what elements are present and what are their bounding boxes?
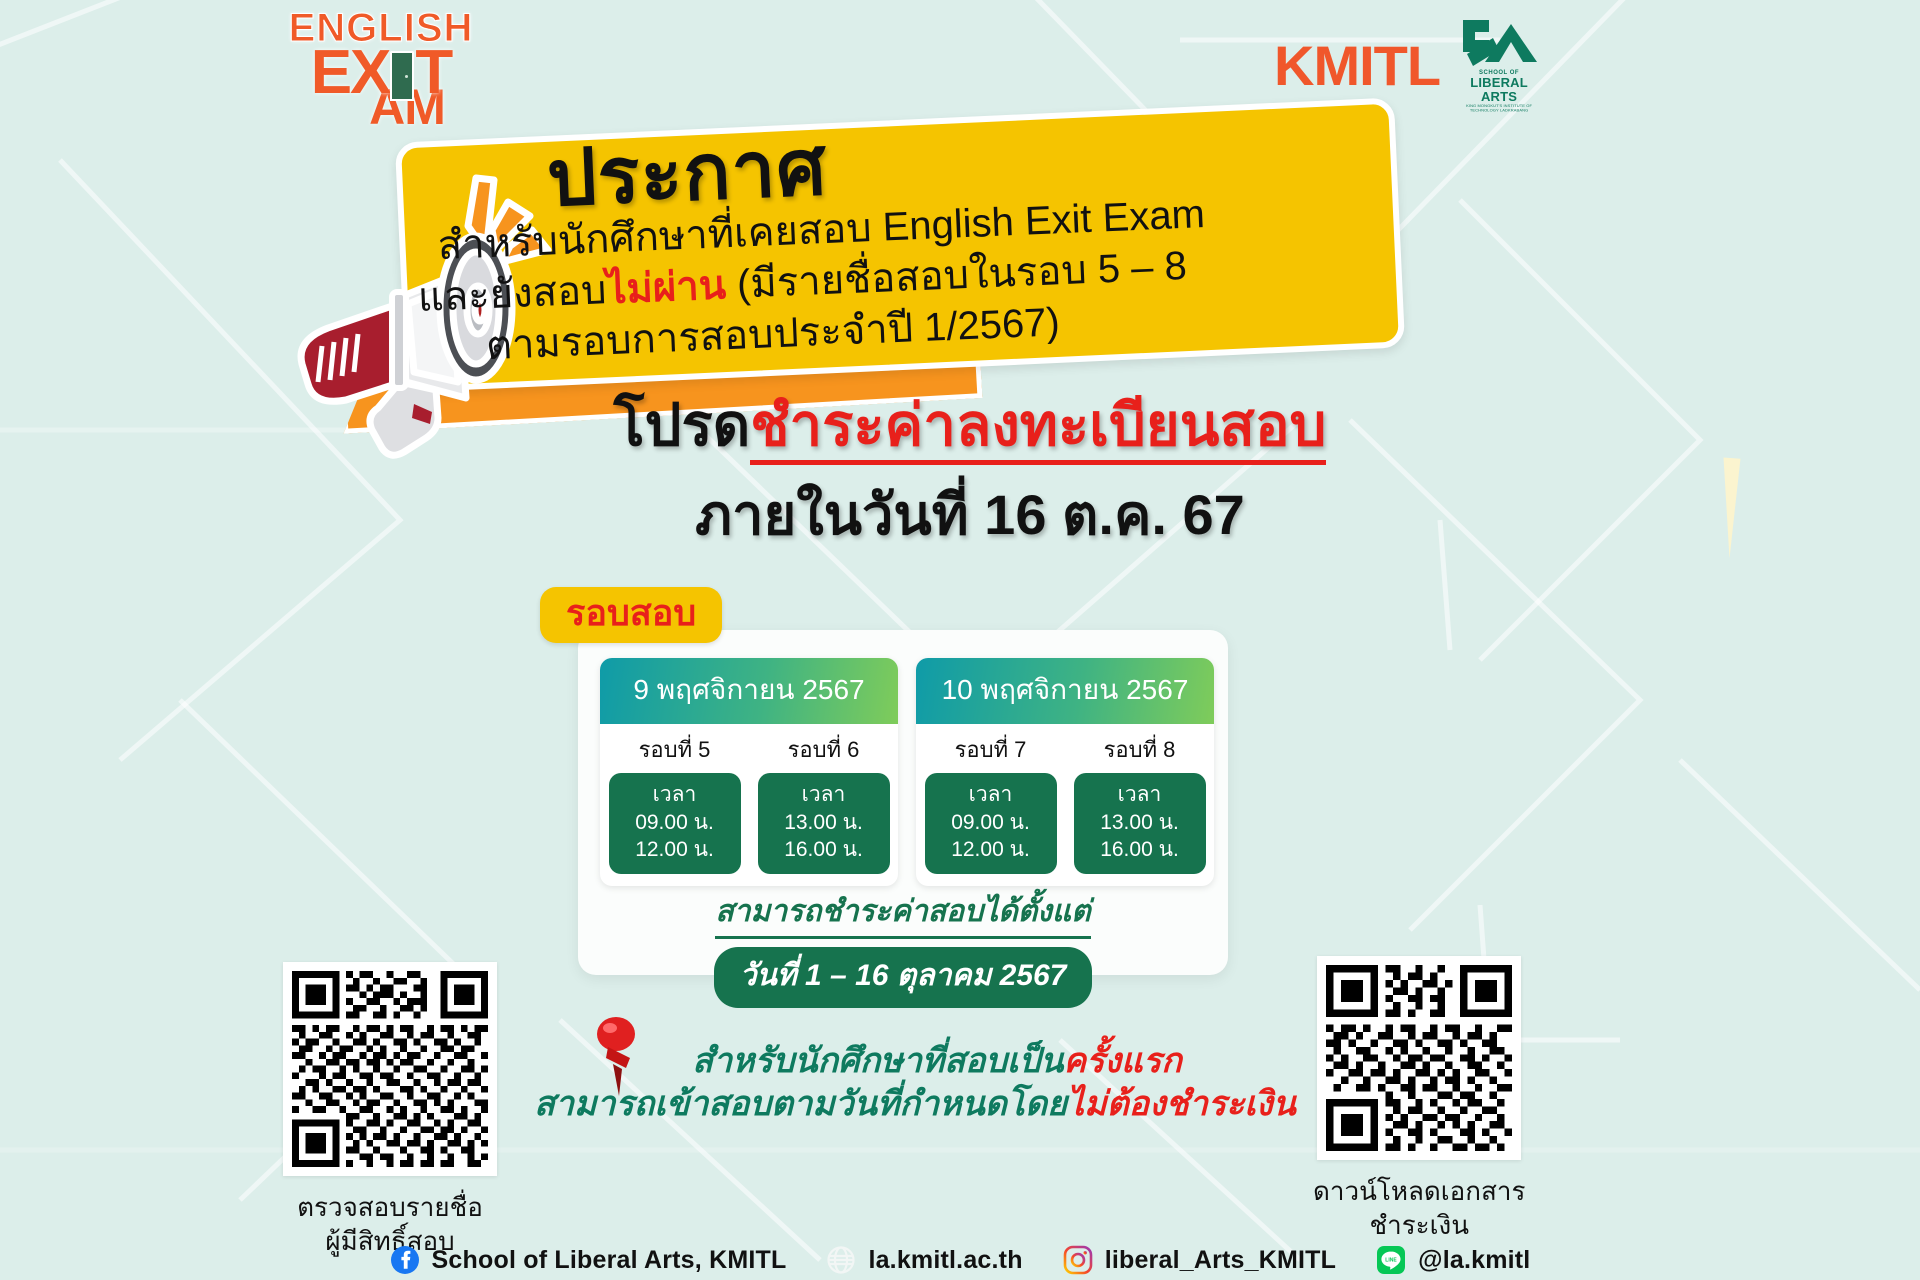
qr-code-icon[interactable] <box>1317 956 1521 1160</box>
logo-ex-text: EX <box>311 38 390 107</box>
la-sub-university: KING MONGKUT'S INSTITUTE OF TECHNOLOGY L… <box>1456 104 1542 113</box>
schedule-day-date: 10 พฤศจิกายน 2567 <box>916 658 1214 724</box>
round-time-box: เวลา 09.00 น. 12.00 น. <box>609 773 741 874</box>
payment-window-note: สามารถชำระค่าสอบได้ตั้งแต่ วันที่ 1 – 16… <box>578 888 1228 1008</box>
time-end: 12.00 น. <box>609 836 741 864</box>
payment-callout: โปรดชำระค่าลงทะเบียนสอบ ภายในวันที่ 16 ต… <box>540 392 1400 559</box>
callout-line-1: โปรดชำระค่าลงทะเบียนสอบ <box>540 392 1400 460</box>
time-start: 09.00 น. <box>925 809 1057 837</box>
svg-text:LINE: LINE <box>1385 1257 1397 1263</box>
first-time-red-2: ไม่ต้องชำระเงิน <box>1067 1085 1296 1123</box>
logo-line-exit: EXT <box>286 42 476 104</box>
first-time-prefix: สำหรับนักศึกษาที่สอบเป็น <box>692 1042 1063 1080</box>
schedule-day-date: 9 พฤศจิกายน 2567 <box>600 658 898 724</box>
time-start: 13.00 น. <box>758 809 890 837</box>
la-monogram-icon <box>1459 18 1539 70</box>
callout-black-text: โปรด <box>614 393 751 458</box>
schedule-round: รอบที่ 7 เวลา 09.00 น. 12.00 น. <box>925 732 1057 874</box>
payment-window-dates: วันที่ 1 – 16 ตุลาคม 2567 <box>714 947 1093 1008</box>
time-end: 16.00 น. <box>758 836 890 864</box>
round-label: รอบที่ 6 <box>758 732 890 767</box>
english-exit-exam-logo: ENGLISH EXT AM <box>286 8 476 136</box>
line-icon: LINE <box>1376 1245 1406 1275</box>
qr-right-caption-line2: ชำระเงิน <box>1313 1209 1525 1243</box>
instagram-icon <box>1063 1245 1093 1275</box>
line3-red-highlight: ไม่ผ่าน <box>605 263 726 312</box>
round-time-box: เวลา 13.00 น. 16.00 น. <box>758 773 890 874</box>
round-label: รอบที่ 8 <box>1074 732 1206 767</box>
door-icon <box>390 51 414 101</box>
footer-label-line: @la.kmitl <box>1418 1246 1530 1275</box>
schedule-round-row: รอบที่ 5 เวลา 09.00 น. 12.00 น. รอบที่ 6… <box>600 732 898 874</box>
yellow-wedge-accent <box>1717 458 1741 559</box>
first-time-note-line-1: สำหรับนักศึกษาที่สอบเป็นครั้งแรก <box>564 1040 1310 1083</box>
line3-prefix: และยังสอบ <box>417 268 607 320</box>
schedule-round: รอบที่ 6 เวลา 13.00 น. 16.00 น. <box>758 732 890 874</box>
round-time-box: เวลา 13.00 น. 16.00 น. <box>1074 773 1206 874</box>
footer-label-instagram: liberal_Arts_KMITL <box>1105 1246 1336 1275</box>
time-label: เวลา <box>609 781 741 809</box>
schedule-round-row: รอบที่ 7 เวลา 09.00 น. 12.00 น. รอบที่ 8… <box>916 732 1214 874</box>
footer-label-website: la.kmitl.ac.th <box>868 1246 1022 1275</box>
time-end: 16.00 น. <box>1074 836 1206 864</box>
footer-item-instagram[interactable]: liberal_Arts_KMITL <box>1063 1245 1336 1275</box>
kmitl-liberal-arts-logo: KMITL SCHOOL OF LIBERAL ARTS KING MONGKU… <box>1274 18 1542 113</box>
time-label: เวลา <box>758 781 890 809</box>
schedule-day-card: 10 พฤศจิกายน 2567 รอบที่ 7 เวลา 09.00 น.… <box>916 658 1214 886</box>
schedule-round: รอบที่ 8 เวลา 13.00 น. 16.00 น. <box>1074 732 1206 874</box>
poster-canvas: ENGLISH EXT AM KMITL SCHOOL OF LIBERAL A… <box>0 0 1920 1280</box>
liberal-arts-mark: SCHOOL OF LIBERAL ARTS KING MONGKUT'S IN… <box>1456 18 1542 113</box>
footer-social-bar: School of Liberal Arts, KMITL la.kmitl.a… <box>0 1245 1920 1275</box>
schedule-badge: รอบสอบ <box>540 587 722 643</box>
schedule-round: รอบที่ 5 เวลา 09.00 น. 12.00 น. <box>609 732 741 874</box>
banner-text-block: ประกาศ สำหรับนักศึกษาที่เคยสอบ English E… <box>426 106 1415 375</box>
qr-right-caption: ดาวน์โหลดเอกสาร ชำระเงิน <box>1313 1175 1525 1243</box>
qr-code-icon[interactable] <box>283 962 497 1176</box>
payment-window-label: สามารถชำระค่าสอบได้ตั้งแต่ <box>715 888 1090 939</box>
schedule-day-card: 9 พฤศจิกายน 2567 รอบที่ 5 เวลา 09.00 น. … <box>600 658 898 886</box>
round-time-box: เวลา 09.00 น. 12.00 น. <box>925 773 1057 874</box>
schedule-day-columns: 9 พฤศจิกายน 2567 รอบที่ 5 เวลา 09.00 น. … <box>600 658 1214 886</box>
footer-item-facebook[interactable]: School of Liberal Arts, KMITL <box>390 1245 787 1275</box>
la-sub-liberal-arts: LIBERAL ARTS <box>1456 76 1542 103</box>
callout-deadline: ภายในวันที่ 16 ต.ค. 67 <box>540 470 1400 559</box>
globe-icon <box>826 1245 856 1275</box>
time-label: เวลา <box>1074 781 1206 809</box>
qr-block-eligibility[interactable]: ตรวจสอบรายชื่อ ผู้มีสิทธิ์สอบ <box>283 962 497 1259</box>
time-start: 13.00 น. <box>1074 809 1206 837</box>
first-time-note: สำหรับนักศึกษาที่สอบเป็นครั้งแรก สามารถเ… <box>520 1040 1310 1125</box>
logo-t-text: T <box>415 38 451 107</box>
footer-item-website[interactable]: la.kmitl.ac.th <box>826 1245 1022 1275</box>
round-label: รอบที่ 5 <box>609 732 741 767</box>
kmitl-wordmark: KMITL <box>1274 38 1440 94</box>
pushpin-icon <box>586 1014 652 1100</box>
facebook-icon <box>390 1245 420 1275</box>
qr-right-caption-line1: ดาวน์โหลดเอกสาร <box>1313 1175 1525 1209</box>
footer-item-line[interactable]: LINE @la.kmitl <box>1376 1245 1530 1275</box>
time-start: 09.00 น. <box>609 809 741 837</box>
qr-left-caption-line1: ตรวจสอบรายชื่อ <box>283 1191 497 1225</box>
callout-red-underlined-text: ชำระค่าลงทะเบียนสอบ <box>750 393 1326 465</box>
qr-block-payment-document[interactable]: ดาวน์โหลดเอกสาร ชำระเงิน <box>1313 956 1525 1243</box>
round-label: รอบที่ 7 <box>925 732 1057 767</box>
footer-label-facebook: School of Liberal Arts, KMITL <box>432 1246 787 1275</box>
time-label: เวลา <box>925 781 1057 809</box>
time-end: 12.00 น. <box>925 836 1057 864</box>
first-time-red-1: ครั้งแรก <box>1063 1042 1181 1080</box>
